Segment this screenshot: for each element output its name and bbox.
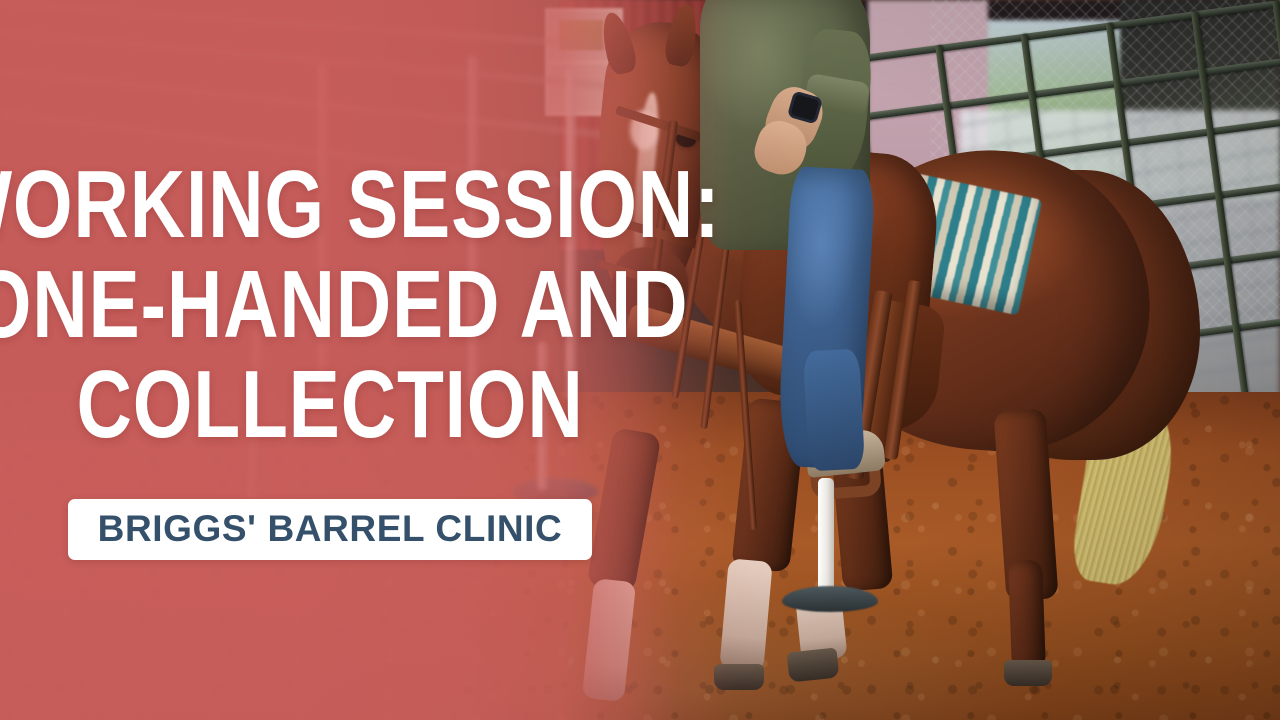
pole-base-foreground xyxy=(782,586,878,612)
text-content-area: WORKING SESSION: ONE-HANDED AND COLLECTI… xyxy=(0,0,660,720)
horse-hind-hoof xyxy=(1004,660,1052,686)
horse-hoof xyxy=(787,647,840,682)
headline-line-1: WORKING SESSION: xyxy=(0,155,720,255)
horse-hoof xyxy=(714,664,764,690)
headline-line-3: COLLECTION xyxy=(0,355,720,455)
horse-white-sock xyxy=(719,558,772,671)
video-thumbnail: WORKING SESSION: ONE-HANDED AND COLLECTI… xyxy=(0,0,1280,720)
page-title: WORKING SESSION: ONE-HANDED AND COLLECTI… xyxy=(0,155,720,455)
headline-line-2: ONE-HANDED AND xyxy=(0,255,720,355)
rider-lower-leg xyxy=(803,349,865,472)
brand-badge: BRIGGS' BARREL CLINIC xyxy=(68,499,593,560)
horse-hind-cannon xyxy=(1008,559,1046,670)
